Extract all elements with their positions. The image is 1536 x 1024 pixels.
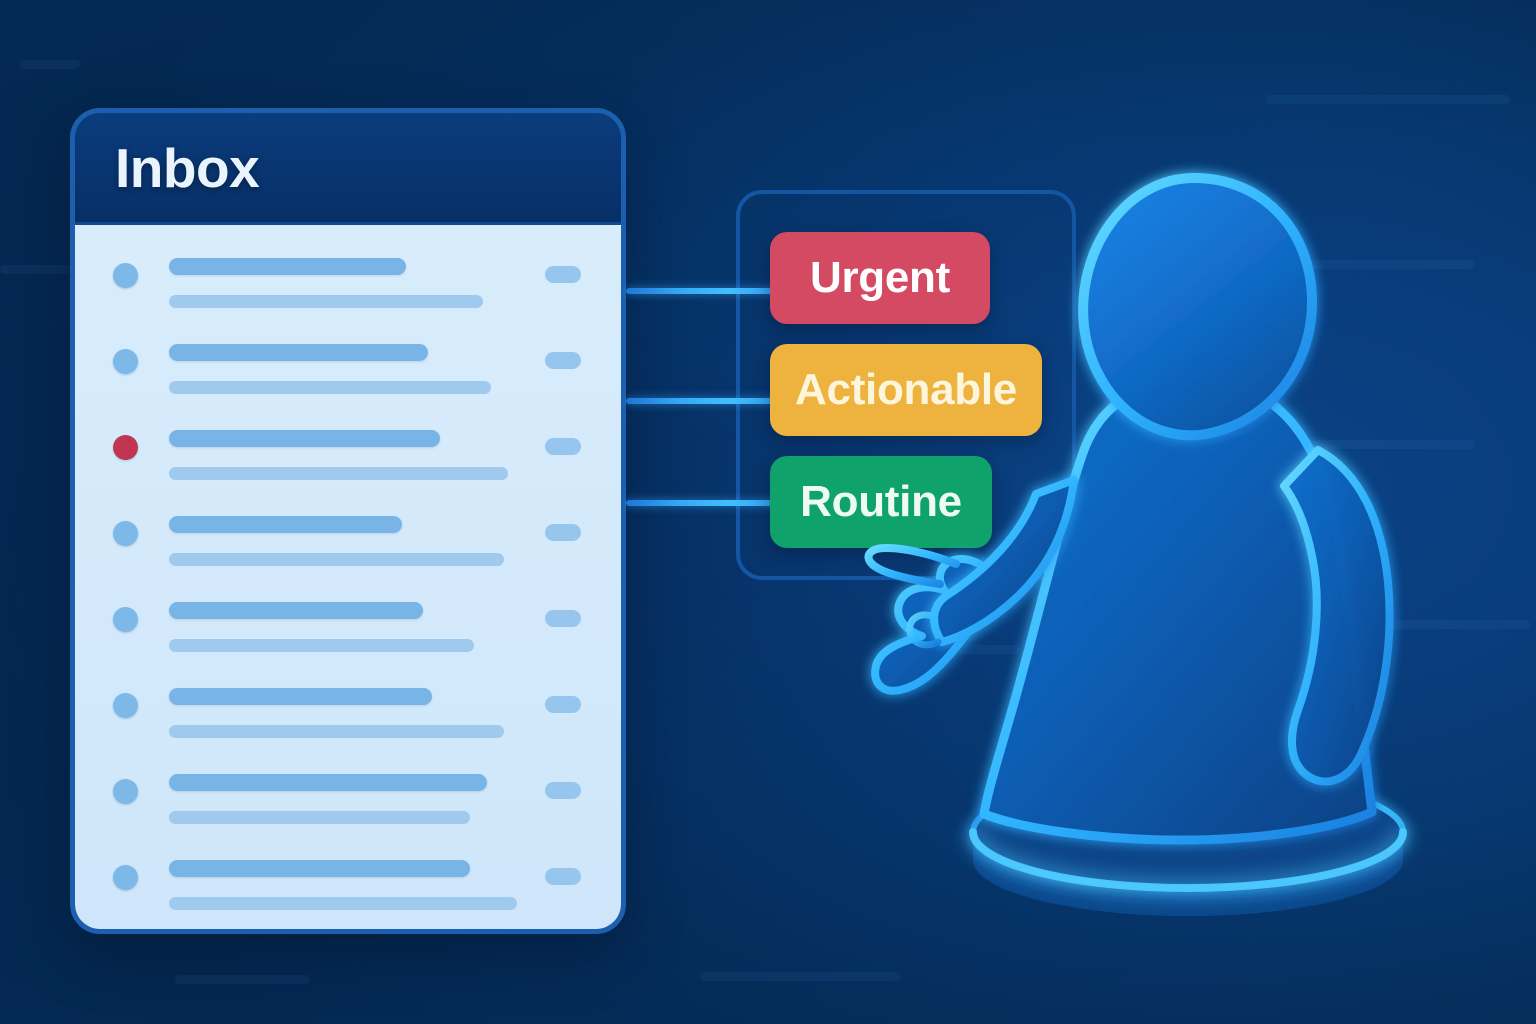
inbox-card-header: Inbox xyxy=(75,113,621,225)
list-item[interactable] xyxy=(75,507,621,593)
message-preview-lines xyxy=(169,421,593,480)
status-dot-icon xyxy=(113,263,138,288)
message-meta-chip xyxy=(545,610,581,627)
message-preview-lines xyxy=(169,335,593,394)
background-decoration-bar xyxy=(20,60,80,69)
message-preview-lines xyxy=(169,507,593,566)
list-item[interactable] xyxy=(75,421,621,507)
status-dot-icon xyxy=(113,521,138,546)
message-preview-lines xyxy=(169,249,593,308)
list-item[interactable] xyxy=(75,593,621,679)
message-snippet-placeholder xyxy=(169,295,483,308)
message-subject-placeholder xyxy=(169,774,487,791)
message-meta-chip xyxy=(545,438,581,455)
connector-line xyxy=(626,398,776,404)
message-preview-lines xyxy=(169,851,593,910)
background-decoration-bar xyxy=(0,265,80,274)
inbox-message-list[interactable] xyxy=(75,225,621,929)
page-title: Inbox xyxy=(115,136,259,200)
message-subject-placeholder xyxy=(169,430,440,447)
status-dot-icon xyxy=(113,779,138,804)
list-item[interactable] xyxy=(75,851,621,934)
message-preview-lines xyxy=(169,593,593,652)
status-dot-icon xyxy=(113,865,138,890)
background-decoration-bar xyxy=(1265,95,1510,104)
message-meta-chip xyxy=(545,524,581,541)
list-item[interactable] xyxy=(75,765,621,851)
message-meta-chip xyxy=(545,782,581,799)
message-snippet-placeholder xyxy=(169,553,504,566)
urgent-status-dot-icon xyxy=(113,435,138,460)
presenter-figure-icon xyxy=(860,150,1500,930)
connector-line xyxy=(626,288,776,294)
connector-line xyxy=(626,500,776,506)
message-snippet-placeholder xyxy=(169,897,517,910)
inbox-card: Inbox xyxy=(70,108,626,934)
message-subject-placeholder xyxy=(169,516,402,533)
status-dot-icon xyxy=(113,693,138,718)
message-snippet-placeholder xyxy=(169,467,508,480)
background-decoration-bar xyxy=(175,975,310,984)
message-snippet-placeholder xyxy=(169,725,504,738)
message-snippet-placeholder xyxy=(169,381,491,394)
message-subject-placeholder xyxy=(169,258,406,275)
message-meta-chip xyxy=(545,868,581,885)
message-meta-chip xyxy=(545,352,581,369)
message-subject-placeholder xyxy=(169,860,470,877)
figure-head xyxy=(1083,178,1312,435)
status-dot-icon xyxy=(113,607,138,632)
status-dot-icon xyxy=(113,349,138,374)
list-item[interactable] xyxy=(75,679,621,765)
message-meta-chip xyxy=(545,266,581,283)
message-meta-chip xyxy=(545,696,581,713)
message-preview-lines xyxy=(169,679,593,738)
message-subject-placeholder xyxy=(169,688,432,705)
background-decoration-bar xyxy=(700,972,900,981)
list-item[interactable] xyxy=(75,335,621,421)
illustration-canvas: Inbox UrgentActionableRoutine xyxy=(0,0,1536,1024)
message-subject-placeholder xyxy=(169,602,423,619)
message-preview-lines xyxy=(169,765,593,824)
list-item[interactable] xyxy=(75,249,621,335)
message-subject-placeholder xyxy=(169,344,428,361)
message-snippet-placeholder xyxy=(169,639,474,652)
message-snippet-placeholder xyxy=(169,811,470,824)
